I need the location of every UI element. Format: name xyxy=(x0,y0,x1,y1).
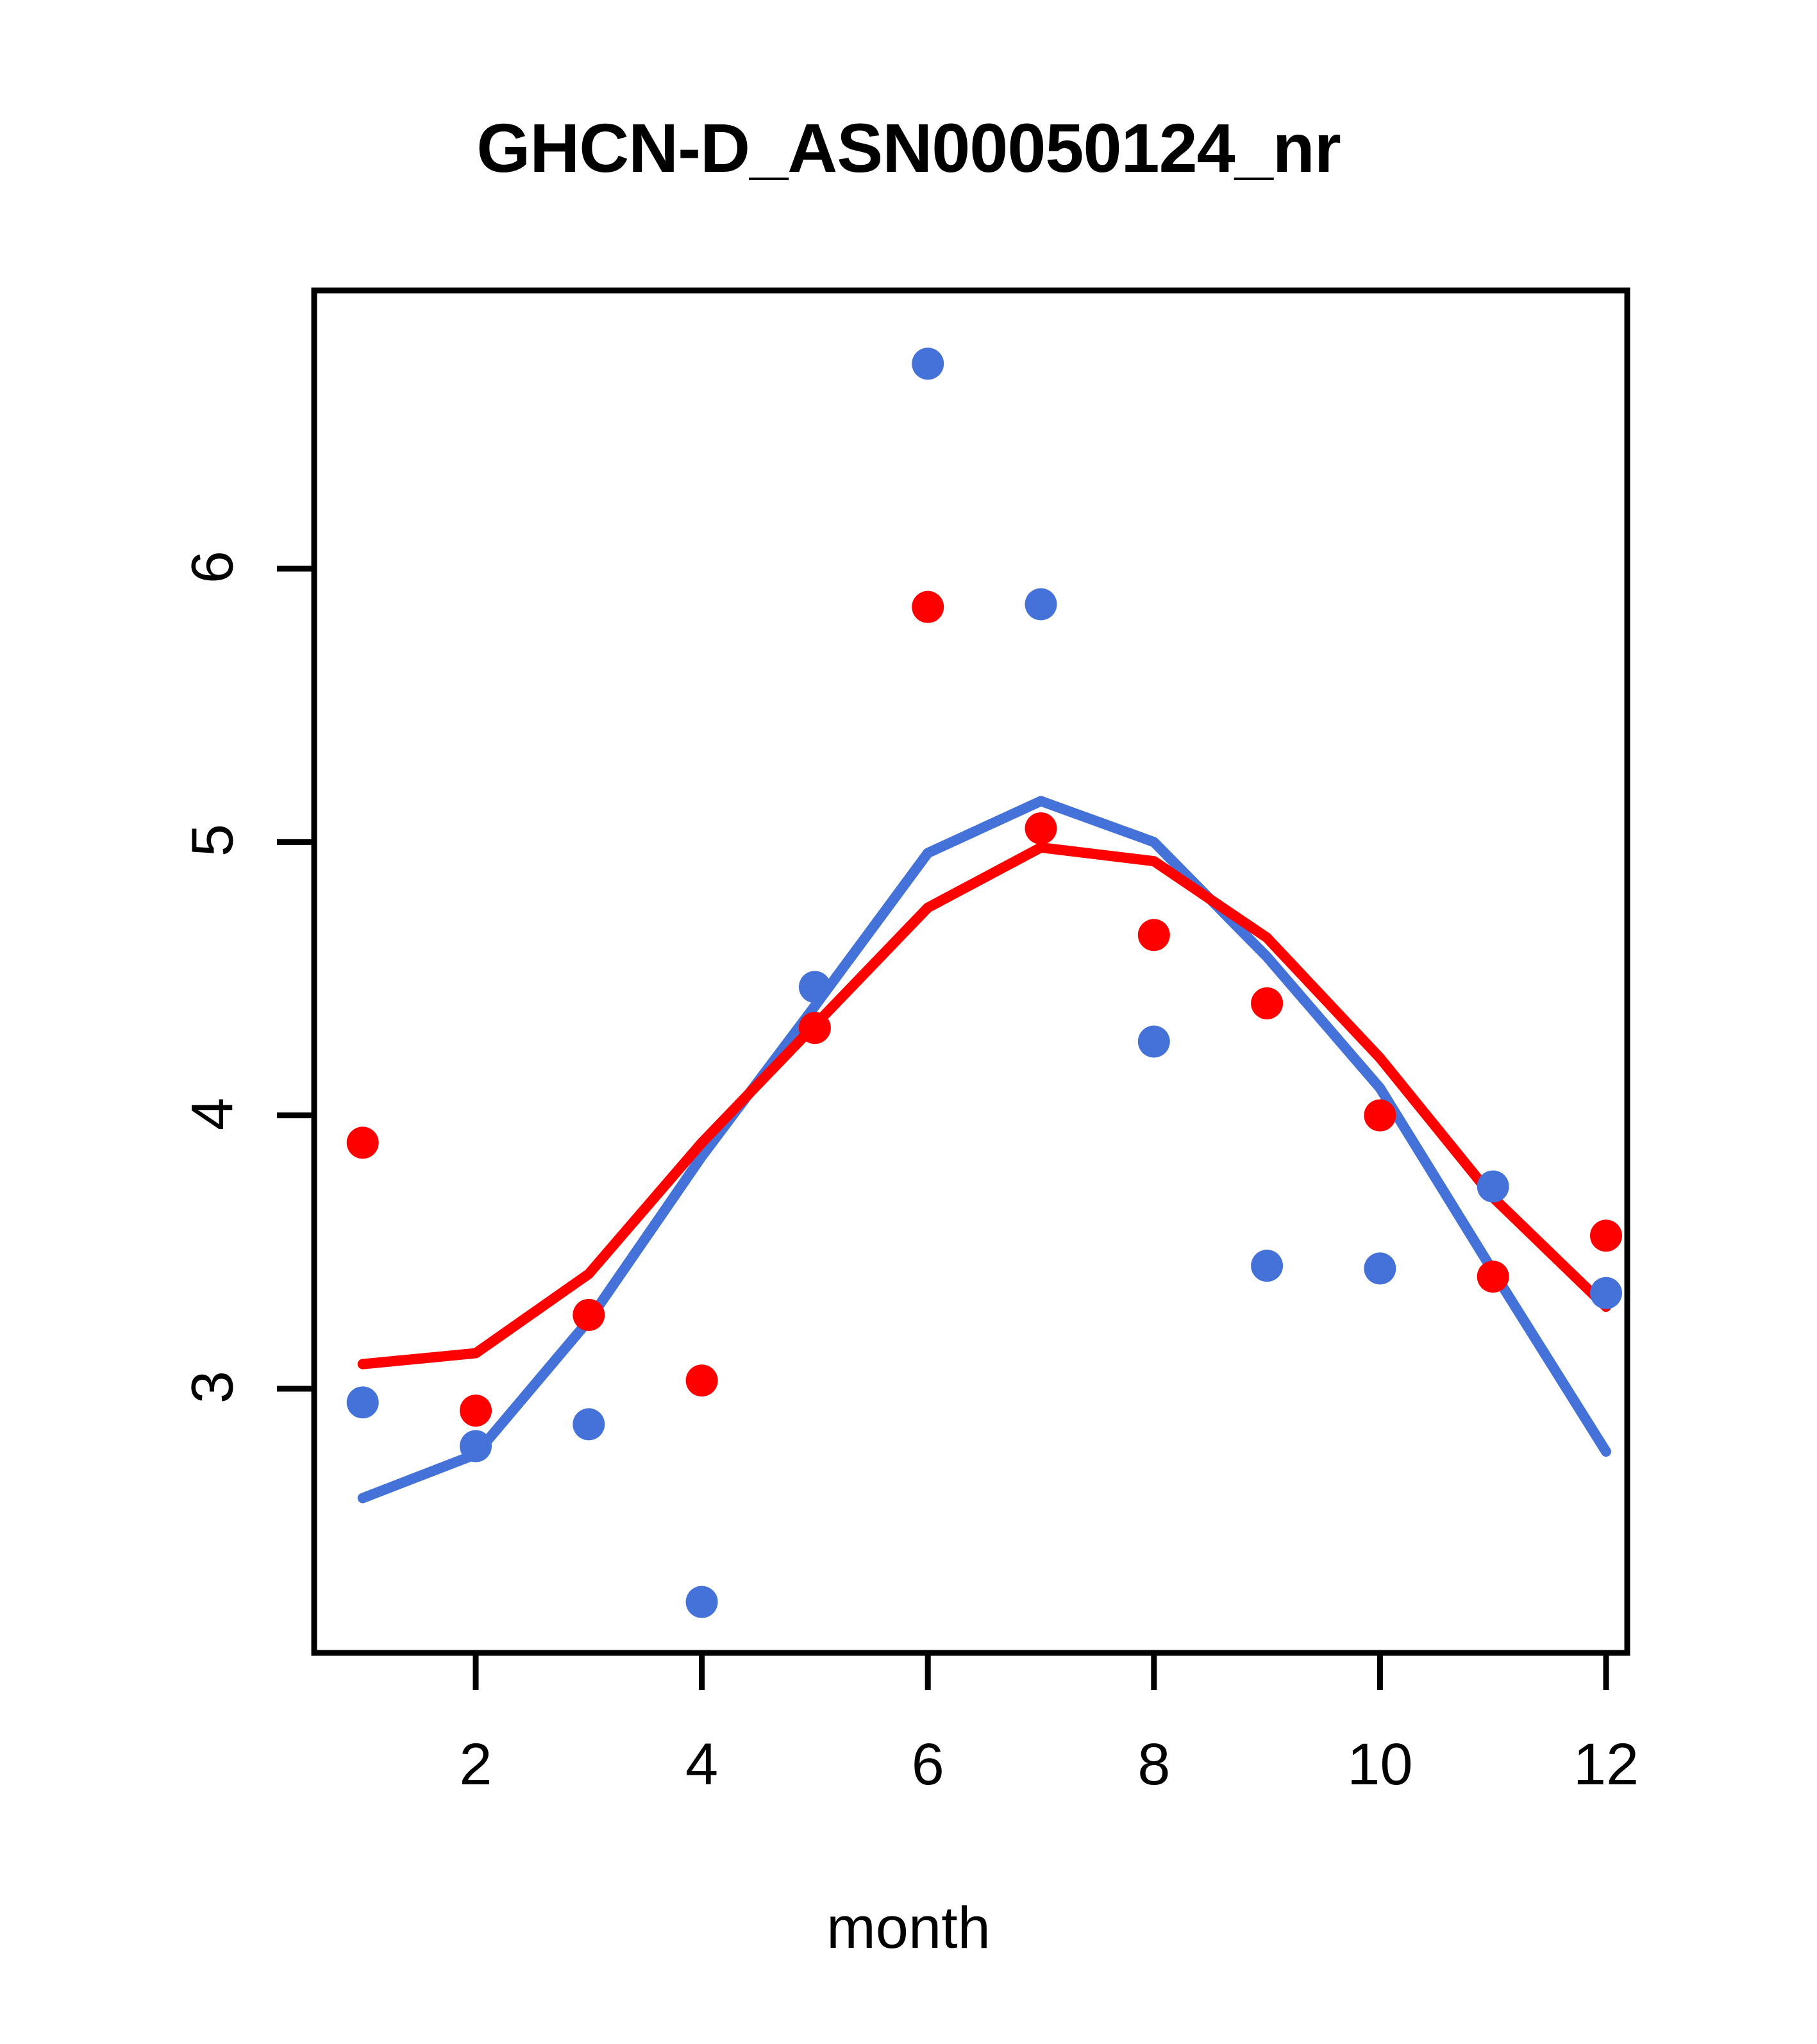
data-point-blue-points xyxy=(1138,1026,1170,1058)
y-axis-tick-label: 4 xyxy=(180,1075,247,1152)
x-axis-tick-label: 6 xyxy=(864,1731,992,1798)
x-axis-title: month xyxy=(0,1895,1817,1962)
data-point-red-points xyxy=(573,1299,605,1331)
data-point-blue-points xyxy=(1477,1171,1509,1203)
x-axis-tick-label: 2 xyxy=(412,1731,540,1798)
data-point-red-points xyxy=(1590,1219,1622,1252)
data-point-blue-points xyxy=(460,1430,492,1462)
series-points xyxy=(347,348,1622,1618)
chart-canvas: GHCN-D_ASN00050124_nr 3456 24681012 mont… xyxy=(0,0,1817,2044)
data-point-red-points xyxy=(460,1395,492,1427)
series-line-red-line xyxy=(363,848,1606,1364)
x-axis-tick-label: 8 xyxy=(1090,1731,1218,1798)
y-axis-tick-label: 6 xyxy=(180,529,247,606)
x-axis-tick-label: 4 xyxy=(638,1731,766,1798)
y-axis-tick-label: 5 xyxy=(180,802,247,879)
data-point-red-points xyxy=(1477,1261,1509,1293)
x-axis-tick-label: 12 xyxy=(1542,1731,1670,1798)
y-axis-tick-label: 3 xyxy=(180,1349,247,1426)
data-point-blue-points xyxy=(799,971,831,1003)
data-point-red-points xyxy=(1364,1100,1396,1132)
y-axis-ticks xyxy=(277,569,314,1389)
x-axis-tick-label: 10 xyxy=(1316,1731,1444,1798)
data-point-blue-points xyxy=(1364,1252,1396,1284)
data-point-blue-points xyxy=(573,1408,605,1440)
data-point-red-points xyxy=(1025,812,1057,844)
data-point-blue-points xyxy=(1025,588,1057,620)
data-point-blue-points xyxy=(347,1386,379,1418)
data-point-blue-points xyxy=(912,348,944,380)
series-lines xyxy=(363,801,1606,1498)
data-point-red-points xyxy=(686,1364,718,1396)
data-point-blue-points xyxy=(1251,1250,1283,1282)
x-axis-ticks xyxy=(476,1653,1606,1690)
data-point-red-points xyxy=(912,591,944,623)
data-point-blue-points xyxy=(686,1586,718,1618)
series-line-blue-line xyxy=(363,801,1606,1498)
data-point-red-points xyxy=(1138,919,1170,951)
data-point-red-points xyxy=(1251,987,1283,1019)
data-point-red-points xyxy=(799,1012,831,1044)
plot-frame xyxy=(314,290,1627,1653)
data-point-red-points xyxy=(347,1127,379,1159)
data-point-blue-points xyxy=(1590,1277,1622,1309)
